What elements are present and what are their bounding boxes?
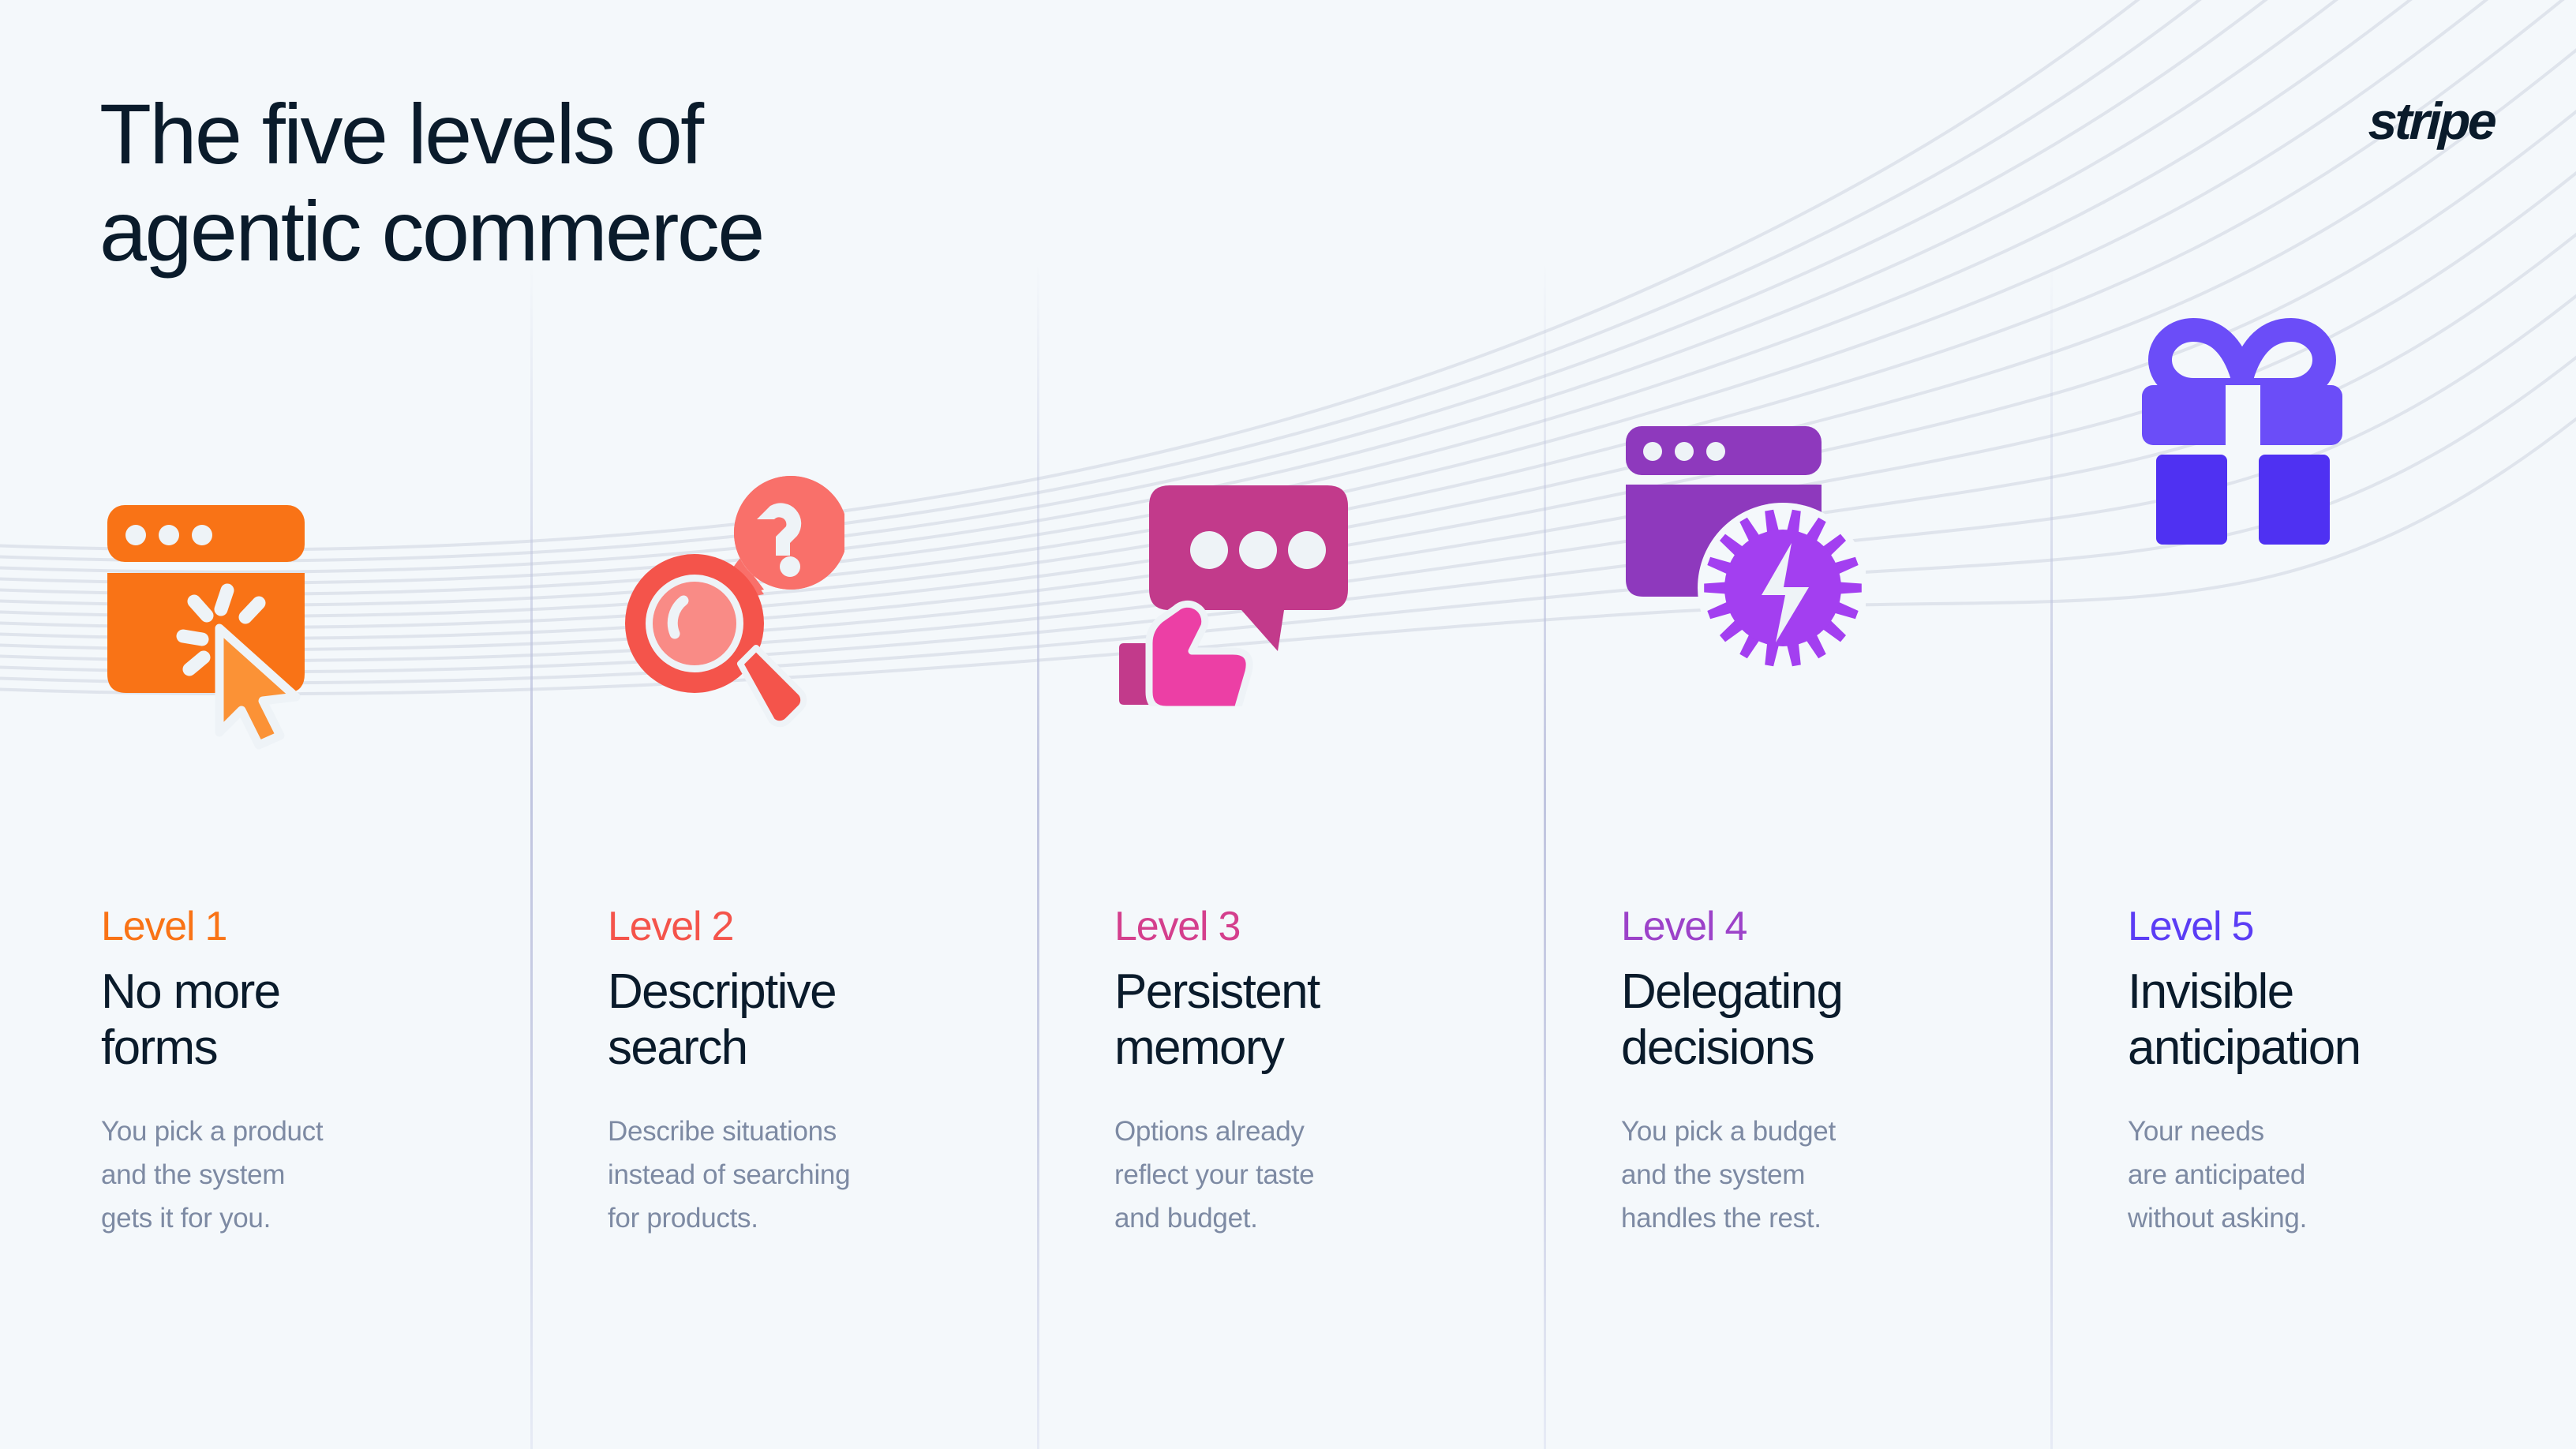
level-label-5: Level 5 [2128,906,2522,947]
level-desc-4: You pick a budget and the system handles… [1621,1110,2016,1240]
level-text-block-1: Level 1 No more forms You pick a product… [101,906,496,1240]
level-text-block-4: Level 4 Delegating decisions You pick a … [1621,906,2016,1240]
level-title-4: Delegating decisions [1621,964,2016,1076]
page-title: The five levels of agentic commerce [99,85,763,279]
magnifier-question-icon [608,470,844,746]
level-title-1: No more forms [101,964,496,1076]
gift-box-icon [2128,316,2357,552]
level-text-block-2: Level 2 Descriptive search Describe situ… [608,906,1002,1240]
level-desc-3: Options already reflect your taste and b… [1114,1110,1509,1240]
browser-cursor-click-icon [101,497,338,750]
level-text-block-3: Level 3 Persistent memory Options alread… [1114,906,1509,1240]
level-title-5: Invisible anticipation [2128,964,2522,1076]
level-column-5: Level 5 Invisible anticipation Your need… [2050,0,2557,1449]
chat-bubble-thumbs-up-icon [1114,454,1359,706]
stripe-logo: stripe [2367,91,2495,151]
level-label-4: Level 4 [1621,906,2016,947]
level-title-2: Descriptive search [608,964,1002,1076]
level-desc-1: You pick a product and the system gets i… [101,1110,496,1240]
level-column-3: Level 3 Persistent memory Options alread… [1037,0,1544,1449]
level-label-3: Level 3 [1114,906,1509,947]
level-column-4: Level 4 Delegating decisions You pick a … [1544,0,2050,1449]
level-label-2: Level 2 [608,906,1002,947]
infographic-canvas: The five levels of agentic commerce stri… [0,0,2576,1449]
level-text-block-5: Level 5 Invisible anticipation Your need… [2128,906,2522,1240]
level-desc-5: Your needs are anticipated without askin… [2128,1110,2522,1240]
browser-gear-bolt-icon [1621,418,1866,679]
level-label-1: Level 1 [101,906,496,947]
level-desc-2: Describe situations instead of searching… [608,1110,1002,1240]
level-title-3: Persistent memory [1114,964,1509,1076]
